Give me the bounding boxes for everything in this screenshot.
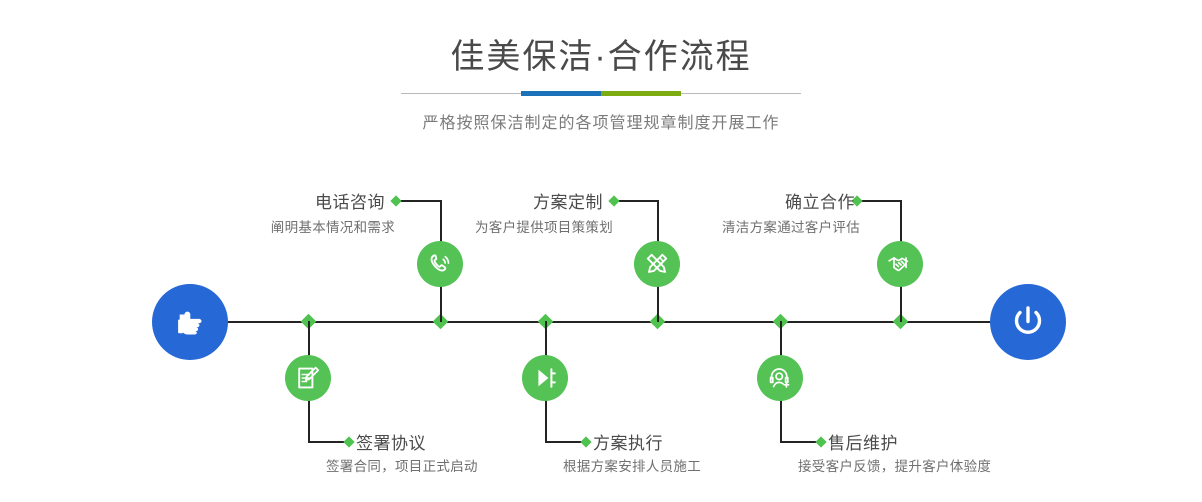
document-edit-icon [294,364,322,392]
step-4-desc: 根据方案安排人员施工 [563,455,701,475]
step-3-label: 方案定制 [390,188,603,213]
step-2-label: 签署协议 [356,429,426,454]
step-3-desc: 为客户提供项目策策划 [390,216,613,236]
step-1-label: 电话咨询 [170,188,385,213]
handshake-icon [886,250,914,278]
connector-tip-marker [580,436,591,447]
step-5-icon-button[interactable] [877,241,923,287]
step-5-desc: 清洁方案通过客户评估 [630,216,860,236]
step-2-icon-button[interactable] [285,355,331,401]
power-icon [1007,301,1049,343]
phone-icon [426,250,454,278]
step-4-label: 方案执行 [593,429,663,454]
customer-service-icon [766,364,794,392]
step-5-label: 确立合作 [640,188,855,213]
step-6-icon-button[interactable] [757,355,803,401]
step-1-icon-button[interactable] [417,241,463,287]
play-icon [531,364,559,392]
process-timeline: 电话咨询 阐明基本情况和需求 方案定制 为客户提供项目策策划 [0,0,1202,502]
timeline-start-node[interactable] [152,284,228,360]
pencil-ruler-icon [643,250,671,278]
connector-tip-marker [343,436,354,447]
step-2-desc: 签署合同，项目正式启动 [326,455,478,475]
connector-tip-marker [815,436,826,447]
step-1-desc: 阐明基本情况和需求 [170,216,395,236]
step-3-icon-button[interactable] [634,241,680,287]
connector-horizontal [857,200,902,202]
step-4-icon-button[interactable] [522,355,568,401]
step-6-label: 售后维护 [828,429,898,454]
timeline-end-node[interactable] [990,284,1066,360]
connector-tip-marker [608,195,619,206]
pointing-hand-icon [170,302,210,342]
step-6-desc: 接受客户反馈，提升客户体验度 [798,455,991,475]
